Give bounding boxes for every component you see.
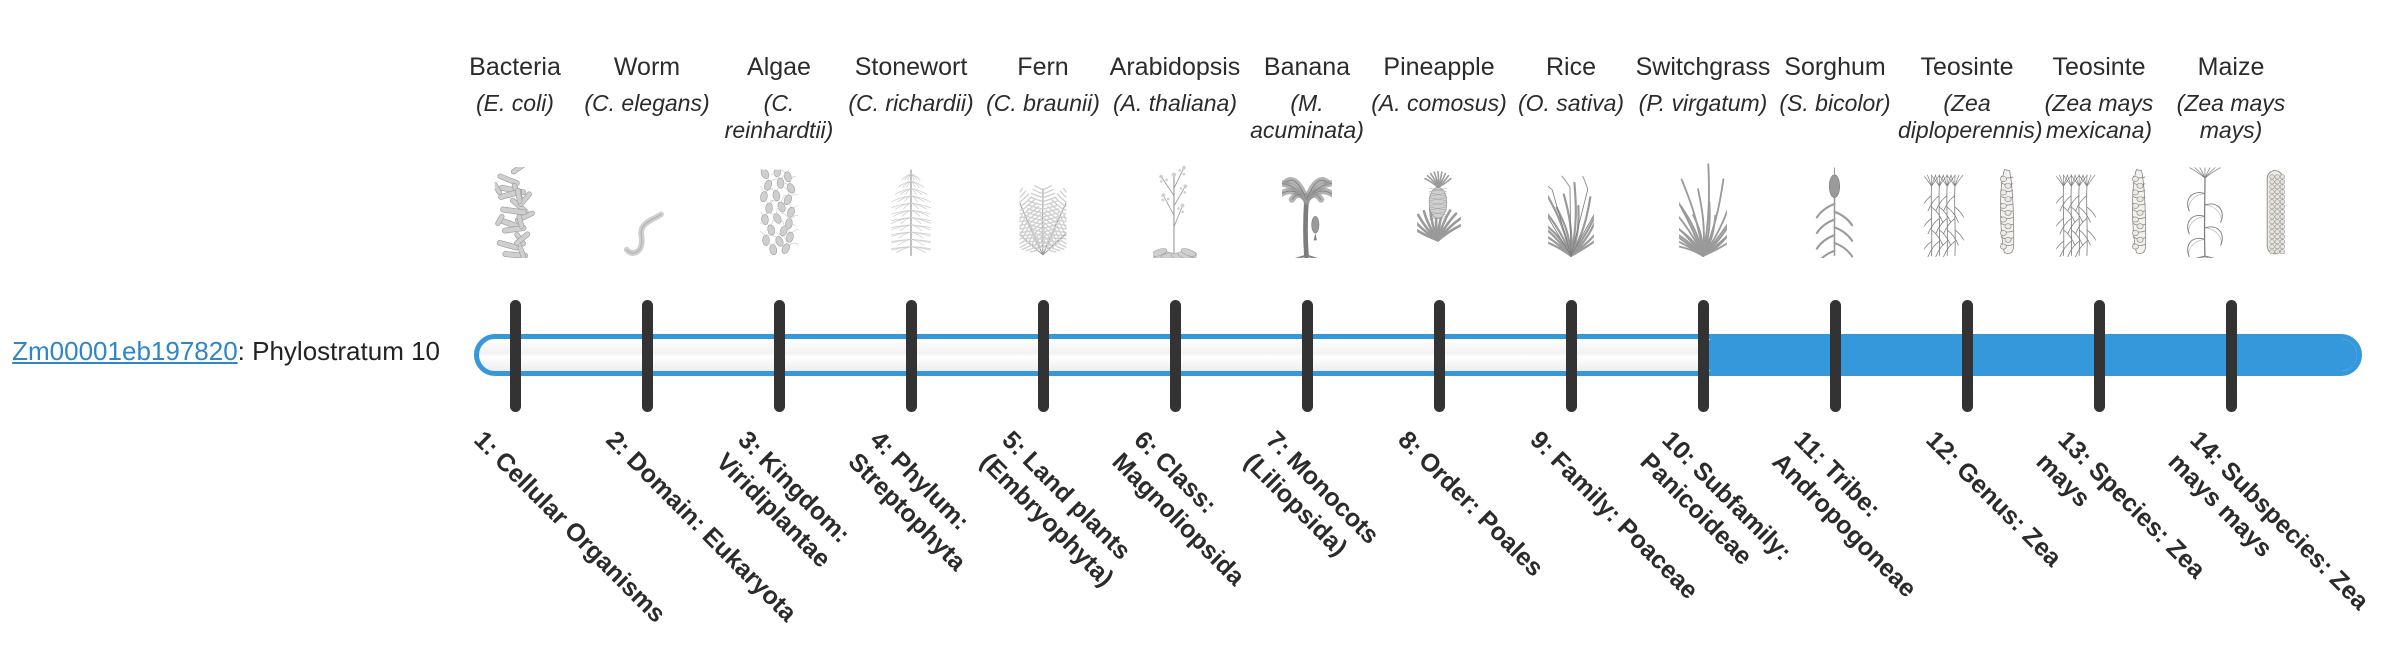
rank-line-1: Domain: bbox=[621, 446, 712, 537]
species-column-bacteria-1: Bacteria(E. coli) bbox=[446, 52, 584, 117]
species-column-teosinte-13: Teosinte(Zea mays mexicana) bbox=[2030, 52, 2168, 144]
rank-line-1: Family: bbox=[1545, 446, 1627, 528]
teosinte-illustration bbox=[1907, 168, 2027, 258]
rank-line-2: Poaceae bbox=[1612, 513, 1704, 605]
rank-line-1: Cellular bbox=[489, 446, 574, 531]
species-common-name: Sorghum bbox=[1766, 52, 1904, 82]
species-column-arabidopsis-6: Arabidopsis(A. thaliana) bbox=[1106, 52, 1244, 117]
species-common-name: Bacteria bbox=[446, 52, 584, 82]
phylostratum-tick-2[interactable] bbox=[642, 300, 653, 412]
species-common-name: Maize bbox=[2162, 52, 2300, 82]
phylostratum-fill bbox=[1703, 334, 2362, 376]
worm-illustration bbox=[587, 168, 707, 258]
switchgrass-illustration bbox=[1643, 168, 1763, 258]
species-common-name: Pineapple bbox=[1370, 52, 1508, 82]
species-common-name: Fern bbox=[974, 52, 1112, 82]
species-latin-name: (O. sativa) bbox=[1502, 90, 1640, 117]
species-column-maize-14: Maize(Zea mays mays) bbox=[2162, 52, 2300, 144]
species-latin-name: (P. virgatum) bbox=[1634, 90, 1772, 117]
fern-illustration bbox=[983, 168, 1103, 258]
banana-illustration bbox=[1247, 168, 1367, 258]
phylostratum-tick-8[interactable] bbox=[1434, 300, 1445, 412]
species-common-name: Teosinte bbox=[2030, 52, 2168, 82]
species-column-rice-9: Rice(O. sativa) bbox=[1502, 52, 1640, 117]
phylostratum-tick-1[interactable] bbox=[510, 300, 521, 412]
species-common-name: Banana bbox=[1238, 52, 1376, 82]
rank-number: 12: bbox=[1920, 426, 1965, 471]
phylostratum-tick-9[interactable] bbox=[1566, 300, 1577, 412]
species-latin-name: (E. coli) bbox=[446, 90, 584, 117]
gene-label-separator: : bbox=[238, 336, 252, 366]
phylostratum-tick-7[interactable] bbox=[1302, 300, 1313, 412]
phylostratum-tick-12[interactable] bbox=[1962, 300, 1973, 412]
species-common-name: Algae bbox=[710, 52, 848, 82]
phylostratum-tick-4[interactable] bbox=[906, 300, 917, 412]
species-common-name: Worm bbox=[578, 52, 716, 82]
species-latin-name: (A. comosus) bbox=[1370, 90, 1508, 117]
species-latin-name: (Zea mays mays) bbox=[2162, 90, 2300, 144]
species-latin-name: (C. reinhardtii) bbox=[710, 90, 848, 144]
rank-line-1: Order: bbox=[1413, 446, 1487, 520]
species-latin-name: (C. elegans) bbox=[578, 90, 716, 117]
phylostratum-value-text: Phylostratum 10 bbox=[252, 336, 440, 366]
phylostratum-tick-5[interactable] bbox=[1038, 300, 1049, 412]
species-common-name: Stonewort bbox=[842, 52, 980, 82]
species-column-switchgrass-10: Switchgrass(P. virgatum) bbox=[1634, 52, 1772, 117]
phylostratum-tick-3[interactable] bbox=[774, 300, 785, 412]
gene-phylostratum-label: Zm00001eb197820: Phylostratum 10 bbox=[0, 336, 440, 366]
species-column-algae-3: Algae(C. reinhardtii) bbox=[710, 52, 848, 144]
rice-illustration bbox=[1511, 168, 1631, 258]
phylostratum-tick-10[interactable] bbox=[1698, 300, 1709, 412]
stonewort-illustration bbox=[851, 168, 971, 258]
rank-line-2: Organisms bbox=[559, 516, 671, 628]
rank-line-2: Zea bbox=[2017, 522, 2067, 572]
phylostratum-tick-11[interactable] bbox=[1830, 300, 1841, 412]
species-latin-name: (M. acuminata) bbox=[1238, 90, 1376, 144]
species-column-banana-7: Banana(M. acuminata) bbox=[1238, 52, 1376, 144]
bacteria-illustration bbox=[455, 168, 575, 258]
teosinte-illustration bbox=[2039, 168, 2159, 258]
pineapple-illustration bbox=[1379, 168, 1499, 258]
species-common-name: Arabidopsis bbox=[1106, 52, 1244, 82]
species-common-name: Switchgrass bbox=[1634, 52, 1772, 82]
species-column-teosinte-12: Teosinte(Zea diploperennis) bbox=[1898, 52, 2036, 144]
gene-id-link[interactable]: Zm00001eb197820 bbox=[12, 336, 238, 366]
maize-illustration bbox=[2171, 168, 2291, 258]
species-latin-name: (Zea diploperennis) bbox=[1898, 90, 2036, 144]
species-column-worm-2: Worm(C. elegans) bbox=[578, 52, 716, 117]
species-common-name: Teosinte bbox=[1898, 52, 2036, 82]
algae-illustration bbox=[719, 168, 839, 258]
phylostratum-tick-13[interactable] bbox=[2094, 300, 2105, 412]
species-column-fern-5: Fern(C. braunii) bbox=[974, 52, 1112, 117]
species-latin-name: (Zea mays mexicana) bbox=[2030, 90, 2168, 144]
species-column-pineapple-8: Pineapple(A. comosus) bbox=[1370, 52, 1508, 117]
species-latin-name: (S. bicolor) bbox=[1766, 90, 1904, 117]
species-common-name: Rice bbox=[1502, 52, 1640, 82]
rank-line-1: Genus: bbox=[1951, 456, 2032, 537]
sorghum-illustration bbox=[1775, 168, 1895, 258]
phylostratum-tick-14[interactable] bbox=[2226, 300, 2237, 412]
species-latin-name: (C. braunii) bbox=[974, 90, 1112, 117]
species-latin-name: (C. richardii) bbox=[842, 90, 980, 117]
phylostratigraphy-chart: Zm00001eb197820: Phylostratum 10 Bacteri… bbox=[0, 0, 2400, 580]
species-column-sorghum-11: Sorghum(S. bicolor) bbox=[1766, 52, 1904, 117]
species-column-stonewort-4: Stonewort(C. richardii) bbox=[842, 52, 980, 117]
arabidopsis-illustration bbox=[1115, 168, 1235, 258]
phylostratum-track[interactable] bbox=[474, 334, 2362, 376]
rank-line-2: Poales bbox=[1472, 505, 1549, 582]
species-latin-name: (A. thaliana) bbox=[1106, 90, 1244, 117]
phylostratum-tick-6[interactable] bbox=[1170, 300, 1181, 412]
